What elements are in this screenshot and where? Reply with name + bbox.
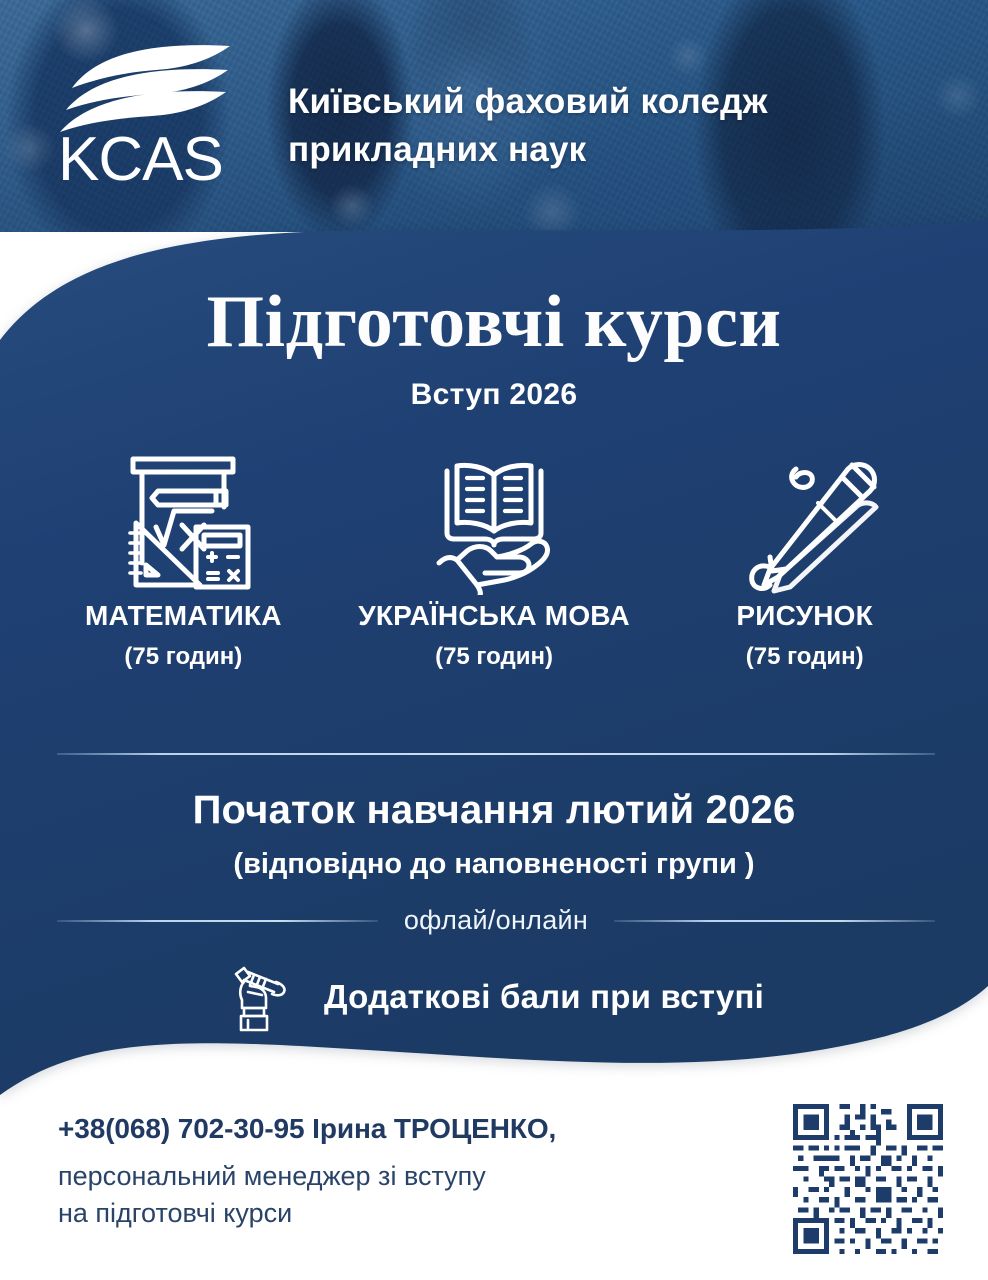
subject-name: МАТЕМАТИКА — [28, 600, 339, 632]
subject-item-drawing: РИСУНОК (75 годин) — [649, 440, 960, 671]
format-label: офлай/онлайн — [404, 905, 588, 936]
subjects-list: МАТЕМАТИКА (75 годин) УКРАЇНСЬ — [28, 440, 960, 671]
footer-contact: +38(068) 702-30-95 Ірина ТРОЦЕНКО, персо… — [58, 1112, 758, 1231]
math-whiteboard-calculator-icon — [28, 440, 339, 600]
format-rule-left — [57, 920, 378, 922]
subject-item-math: МАТЕМАТИКА (75 годин) — [28, 440, 339, 671]
subject-item-ukrainian: УКРАЇНСЬКА МОВА (75 годин) — [339, 440, 650, 671]
college-name: Київський фаховий коледж прикладних наук — [288, 78, 958, 173]
contact-role-line-2: на підготовчі курси — [58, 1195, 758, 1231]
page-subtitle: Вступ 2026 — [0, 378, 988, 412]
start-date-line: Початок навчання лютий 2026 — [0, 788, 988, 833]
section-divider — [57, 753, 935, 755]
hand-holding-pencil-icon — [224, 960, 298, 1034]
crossed-pencils-icon — [649, 440, 960, 600]
qr-code[interactable] — [793, 1104, 943, 1254]
subject-hours: (75 годин) — [28, 643, 339, 671]
card-content: Підготовчі курси Вступ 2026 — [0, 200, 988, 1125]
format-rule-right — [614, 920, 935, 922]
start-date-note: (відповідно до наповненості групи ) — [0, 848, 988, 881]
format-row: офлай/онлайн — [57, 905, 935, 936]
subject-hours: (75 годин) — [649, 643, 960, 671]
contact-phone-and-name[interactable]: +38(068) 702-30-95 Ірина ТРОЦЕНКО, — [58, 1112, 758, 1146]
svg-text:KCAS: KCAS — [60, 125, 223, 184]
contact-role-line-1: персональний менеджер зі вступу — [58, 1158, 758, 1194]
header-banner: KCAS Київський фаховий коледж прикладних… — [0, 0, 988, 232]
bonus-points-label: Додаткові бали при вступі — [324, 978, 764, 1016]
page-title: Підготовчі курси — [0, 280, 988, 365]
subject-name: УКРАЇНСЬКА МОВА — [339, 600, 650, 632]
kcas-wave-logo: KCAS — [60, 44, 240, 184]
bonus-points-row: Додаткові бали при вступі — [0, 960, 988, 1034]
subject-hours: (75 годин) — [339, 643, 650, 671]
open-book-on-hand-icon — [339, 440, 650, 600]
subject-name: РИСУНОК — [649, 600, 960, 632]
